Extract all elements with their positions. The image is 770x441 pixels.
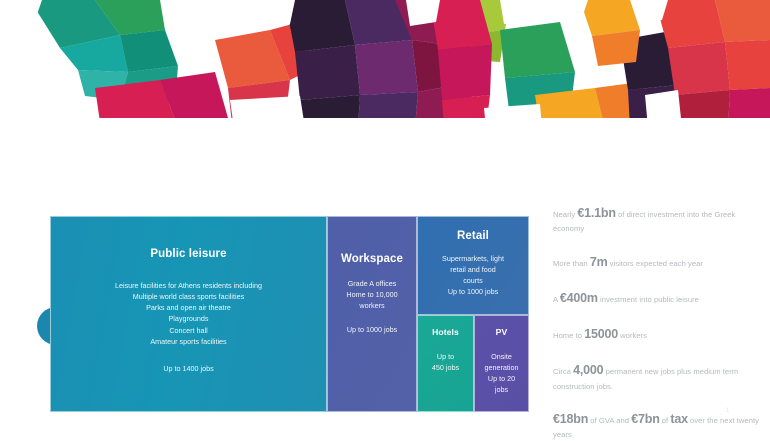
page-number: 1 [726,408,729,414]
stat-visitors-value: 7m [590,255,608,269]
cell-body-public-leisure: Leisure facilities for Athens residents … [51,280,326,347]
stat-gva-mid2: of [660,416,671,425]
treemap-cell-workspace[interactable]: Workspace Grade A officesHome to 10,000w… [327,216,417,412]
treemap-sub-stack: Hotels Up to450 jobs PV Onsitegeneration… [417,315,529,412]
stat-leisure-value: €400m [560,291,598,305]
stat-jobs-pre: Circa [553,367,573,376]
treemap-chart: Public leisure Leisure facilities for At… [50,216,529,412]
cell-title-hotels: Hotels [418,327,473,337]
stat-gva-value: €18bn [553,412,588,426]
stat-investment: Nearly €1.1bn of direct investment into … [553,203,765,236]
stat-investment-pre: Nearly [553,210,577,219]
stat-gva-mid1: of GVA and [588,416,631,425]
low-poly-collage-svg [0,0,770,128]
stat-visitors: More than 7m visitors expected each year [553,252,765,272]
cell-jobs-public-leisure: Up to 1400 jobs [51,363,326,374]
cell-title-workspace: Workspace [328,253,416,265]
cell-title-retail: Retail [418,230,528,242]
header-artwork [0,0,770,128]
treemap-cell-hotels[interactable]: Hotels Up to450 jobs [417,315,474,412]
treemap-cell-retail[interactable]: Retail Supermarkets, lightretail and foo… [417,216,529,315]
stat-visitors-post: visitors expected each year [607,259,703,268]
stat-visitors-pre: More than [553,259,590,268]
stat-leisure-pre: A [553,295,560,304]
stat-jobs: Circa 4,000 permanent new jobs plus medi… [553,360,765,393]
poly-shapes [0,0,770,128]
stat-gva-tax: €18bn of GVA and €7bn of tax over the ne… [553,409,765,441]
treemap-cell-public-leisure[interactable]: Public leisure Leisure facilities for At… [50,216,327,412]
cell-body-workspace: Grade A officesHome to 10,000workers [328,278,416,311]
stat-leisure-post: investment into public leisure [598,295,699,304]
stat-investment-value: €1.1bn [577,206,615,220]
treemap-cell-pv[interactable]: PV OnsitegenerationUp to 20jobs [474,315,529,412]
cell-jobs-workspace: Up to 1000 jobs [328,324,416,335]
stat-tax-value: €7bn [631,412,659,426]
stat-public-leisure-investment: A €400m investment into public leisure [553,288,765,308]
cell-body-retail: Supermarkets, lightretail and foodcourts… [418,253,528,298]
cell-title-pv: PV [475,327,528,337]
cell-title-public-leisure: Public leisure [51,248,326,260]
stat-tax-word: tax [670,412,687,426]
cell-body-hotels: Up to450 jobs [418,351,473,373]
stat-jobs-value: 4,000 [573,363,603,377]
cell-body-pv: OnsitegenerationUp to 20jobs [475,351,528,396]
stat-workers-value: 15000 [584,327,618,341]
title-block: Think Alive. Work Alive. Move Alive. Ath… [0,146,770,200]
statistics-list: Nearly €1.1bn of direct investment into … [553,203,765,441]
treemap-right-stack: Retail Supermarkets, lightretail and foo… [417,216,529,412]
stat-workers-post: workers [618,331,647,340]
stat-workers: Home to 15000 workers [553,324,765,344]
stat-workers-pre: Home to [553,331,584,340]
